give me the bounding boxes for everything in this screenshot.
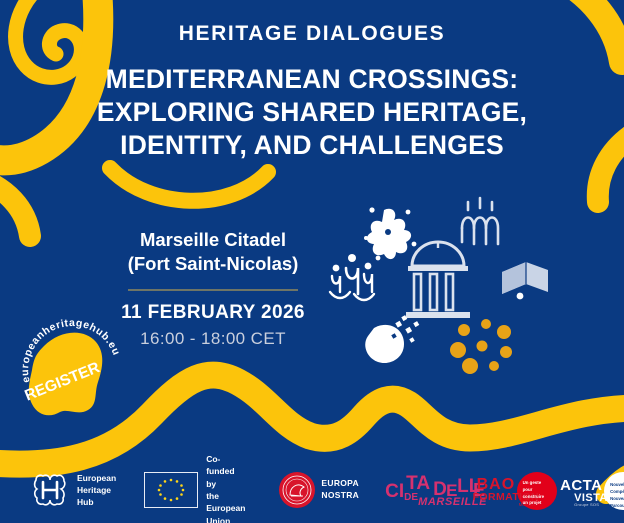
divider [128,289,298,291]
folded-map-icon [502,262,548,299]
people-figures-icon [330,254,374,300]
heritage-icon-cluster [322,188,554,374]
citadelle-de: DE [404,492,418,503]
title-line-3: IDENTITY, AND CHALLENGES [120,130,504,160]
classical-temple-icon [406,242,470,318]
bao-disc-line-2: pour [523,487,544,494]
ehh-logo-text: European Heritage Hub [77,472,116,509]
citadelle-ci: CI [385,481,404,503]
acta-disc-line-3: Nouveau [610,496,624,503]
european-heritage-hub-logo: European Heritage Hub [30,470,116,510]
register-badge[interactable]: europeanheritagehub.eu REGISTER [14,312,136,430]
venue-name: Marseille Citadel (Fort Saint-Nicolas) [78,228,348,277]
acta-disc-line-4: Parcours [610,503,624,510]
title-line-1: MEDITERRANEAN CROSSINGS: [106,64,519,94]
venue-line-1: Marseille Citadel [140,229,286,250]
ehh-mark-icon [30,470,70,510]
page-title: MEDITERRANEAN CROSSINGS: EXPLORING SHARE… [0,63,624,162]
europa-nostra-text: EUROPA NOSTRA [321,478,359,502]
acta-disc-line-2: Compétences [610,489,624,496]
europa-nostra-logo: EUROPA NOSTRA [279,470,359,510]
comet-dots-icon [365,315,419,363]
bao-disc-text: Un geste pour construire un projet [523,480,544,507]
eyebrow-label: HERITAGE DIALOGUES [0,22,624,45]
pinwheel-flower-icon [364,207,416,260]
acta-sub: Groupe SOS [574,502,599,507]
dot-cluster-icon [450,319,512,374]
acta-disc-text: Nouvelles Compétences Nouveau Parcours [610,482,624,510]
eu-logo-text: Co-funded by the European Union [206,453,245,523]
arches-fountain-icon [462,198,498,244]
header-block: HERITAGE DIALOGUES MEDITERRANEAN CROSSIN… [0,22,624,162]
acta-disc-line-1: Nouvelles [610,482,624,489]
eu-flag-icon [144,472,198,508]
co-funded-by-eu-logo: Co-funded by the European Union [144,470,245,510]
event-poster: HERITAGE DIALOGUES MEDITERRANEAN CROSSIN… [0,0,624,523]
acta-vista-logo: ACTA VISTA Groupe SOS Nouvelles Compéten… [560,470,624,510]
partner-logo-bar: European Heritage Hub [0,457,624,523]
venue-line-2: (Fort Saint-Nicolas) [128,253,299,274]
citadelle-de-marseille-logo: CI TA D E LL E DE MARSEILLE [385,470,454,510]
europa-nostra-seal-icon [279,472,315,508]
bao-disc-line-1: Un geste [523,480,544,487]
bao-disc-line-4: un projet [523,500,544,507]
bao-formation-logo: BAO FORMATION Marseille Un geste pour co… [477,470,537,510]
bao-disc-line-3: construire [523,494,544,501]
title-line-2: EXPLORING SHARED HERITAGE, [97,97,527,127]
